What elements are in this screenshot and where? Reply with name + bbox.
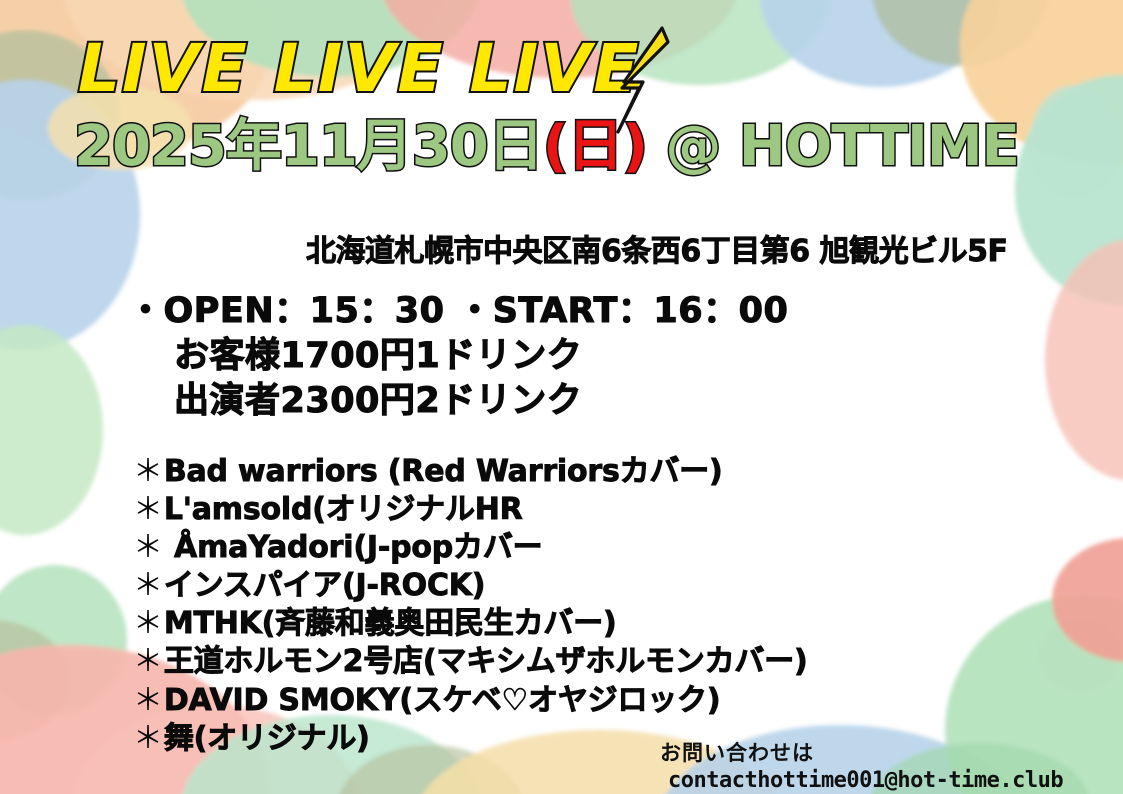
band-lineup-list: ＊Bad warriors (Red Warriorsカバー) ＊L'amsol… [133,453,808,758]
band-name: L'amsold(オリジナルHR [164,492,523,527]
contact-email[interactable]: contacthottime001@hot-time.club [668,767,1063,794]
bullet-asterisk-icon: ＊ [133,568,163,603]
band-name: 舞(オリジナル) [164,721,370,756]
bullet-asterisk-icon: ＊ [133,683,163,718]
event-day-of-week: (日) [543,114,647,179]
bullet-asterisk-icon: ＊ [133,454,163,489]
list-item: ＊MTHK(斉藤和義奥田民生カバー) [133,605,808,643]
bullet-asterisk-icon: ＊ [133,530,163,565]
list-item: ＊ ÅmaYadori(J-popカバー [133,529,808,567]
list-item: ＊DAVID SMOKY(スケベ♡オヤジロック) [133,682,808,720]
bullet-asterisk-icon: ＊ [133,492,163,527]
list-item: ＊王道ホルモン2号店(マキシムザホルモンカバー) [133,643,808,681]
event-venue-suffix: @ HOTTIME [647,114,1019,179]
band-name: DAVID SMOKY(スケベ♡オヤジロック) [164,683,721,718]
event-date-line: 2025年11月30日(日) @ HOTTIME [74,118,1019,177]
contact-block: お問い合わせは contacthottime001@hot-time.club [660,740,1063,794]
bullet-asterisk-icon: ＊ [133,644,163,679]
band-name: インスパイア(J-ROCK) [164,568,486,603]
band-name: Bad warriors (Red Warriorsカバー) [164,454,723,489]
bullet-asterisk-icon: ＊ [133,721,163,756]
band-name: 王道ホルモン2号店(マキシムザホルモンカバー) [164,644,808,679]
bullet-asterisk-icon: ＊ [133,606,163,641]
open-start-row: ・OPEN：15：30 ・START：16：00 [128,289,788,334]
poster-content: LIVE LIVE LIVE 2025年11月30日(日) @ HOTTIME … [0,0,1123,794]
guest-price-row: お客様1700円1ドリンク [128,334,788,379]
page-title-headline: LIVE LIVE LIVE [78,36,640,102]
band-name: ÅmaYadori(J-popカバー [164,530,543,565]
event-info-block: ・OPEN：15：30 ・START：16：00 お客様1700円1ドリンク 出… [128,289,788,423]
list-item: ＊Bad warriors (Red Warriorsカバー) [133,453,808,491]
list-item: ＊インスパイア(J-ROCK) [133,567,808,605]
list-item: ＊L'amsold(オリジナルHR [133,491,808,529]
performer-price-row: 出演者2300円2ドリンク [128,379,788,424]
event-date-prefix: 2025年11月30日 [74,114,543,179]
contact-label: お問い合わせは [660,740,1063,767]
venue-address: 北海道札幌市中央区南6条西6丁目第6 旭観光ビル5F [306,226,1007,270]
band-name: MTHK(斉藤和義奥田民生カバー) [164,606,617,641]
flyer-poster: LIVE LIVE LIVE 2025年11月30日(日) @ HOTTIME … [0,0,1123,794]
